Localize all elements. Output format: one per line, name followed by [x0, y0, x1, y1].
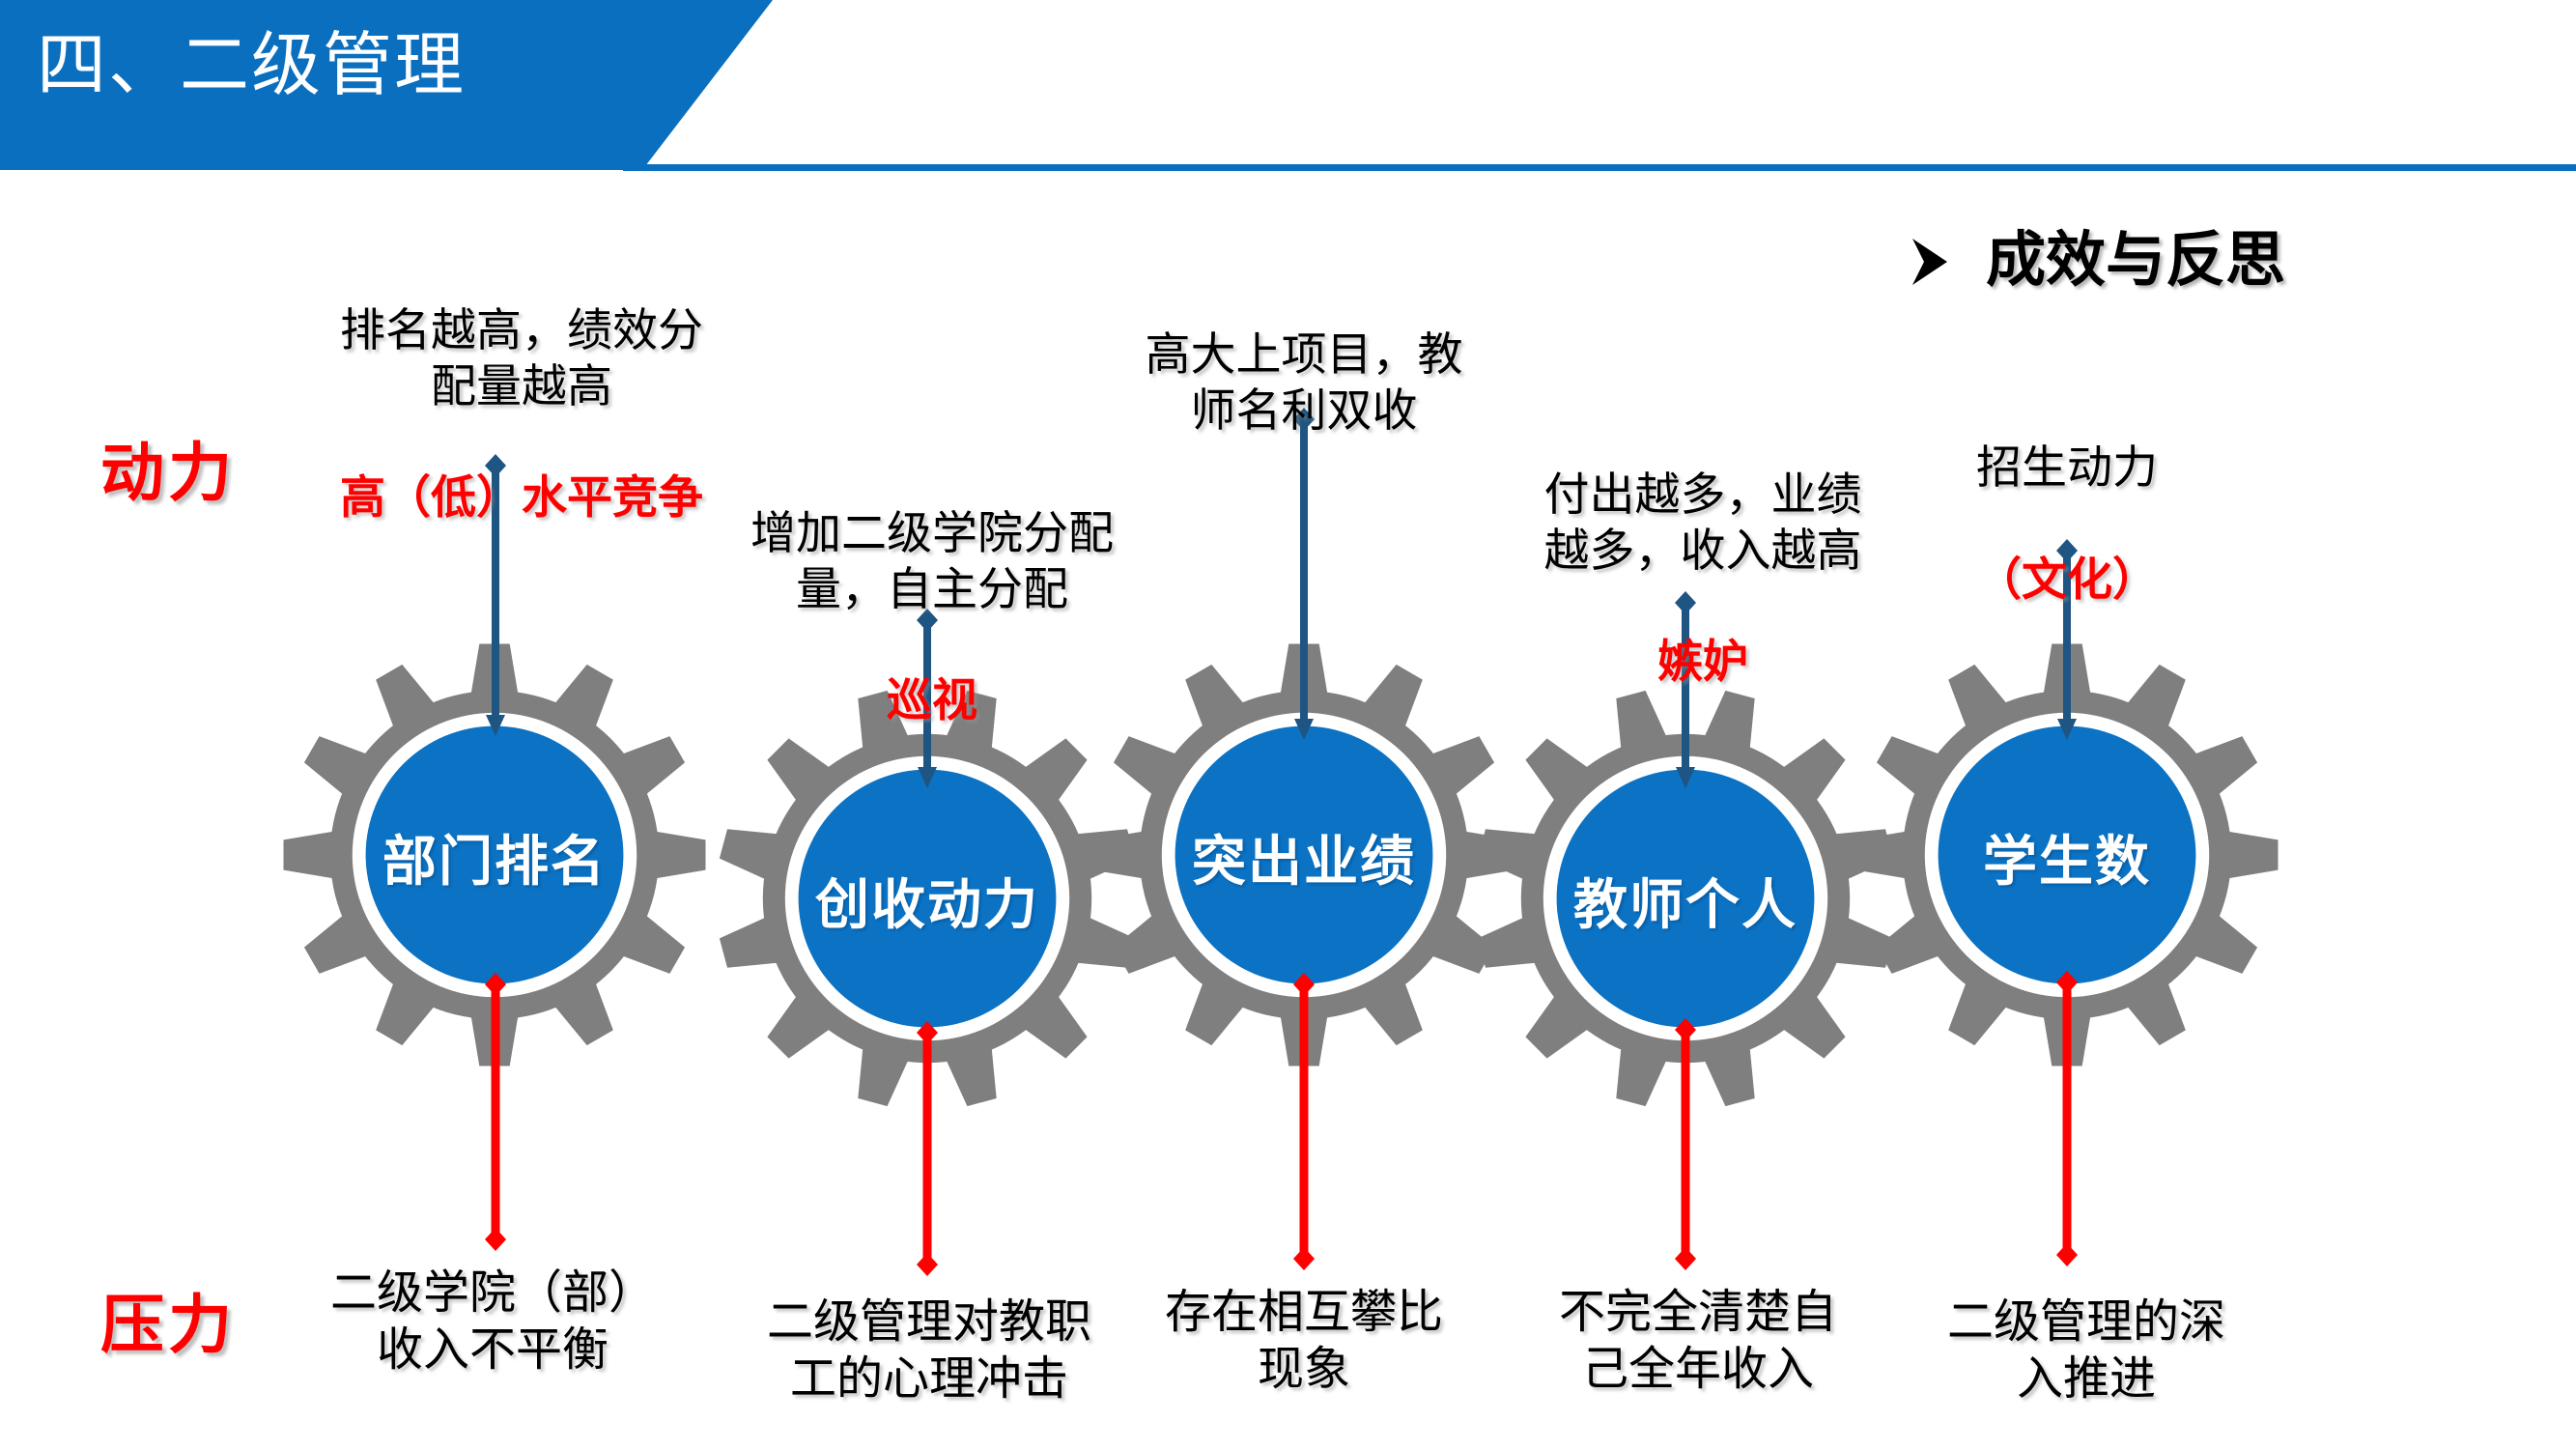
- bottom-note-2: 二级管理对教职 工的心理冲击: [726, 1294, 1132, 1407]
- connector-bottom-2: [910, 1019, 945, 1278]
- top-note-2-highlight: 巡视: [887, 674, 977, 727]
- bottom-note-1: 二级学院（部） 收入不平衡: [290, 1265, 695, 1379]
- page-title: 四、二级管理: [37, 27, 466, 103]
- header-rule-left: [365, 165, 636, 170]
- top-note-4-highlight: 嫉妒: [1657, 636, 1748, 689]
- connector-bottom-4: [1668, 1016, 1703, 1272]
- header-rule: [623, 164, 2576, 171]
- axis-label-pressure: 压力: [100, 1273, 236, 1366]
- top-note-1: 排名越高，绩效分 配量越高 高（低）水平竞争: [280, 249, 763, 527]
- connector-bottom-3: [1287, 971, 1321, 1272]
- axis-label-power: 动力: [100, 421, 236, 514]
- top-note-3: 高大上项目，教 师名利双收: [1101, 273, 1507, 440]
- connector-top-3: [1287, 406, 1321, 742]
- bottom-note-3: 存在相互攀比 现象: [1111, 1285, 1497, 1398]
- section-heading-label: 成效与反思: [1986, 211, 2285, 298]
- bottom-note-5: 二级管理的深 入推进: [1893, 1294, 2279, 1407]
- top-note-2-text: 增加二级学院分配 量，自主分配: [750, 509, 1114, 614]
- top-note-1-highlight: 高（低）水平竞争: [340, 471, 703, 525]
- top-note-3-text: 高大上项目，教 师名利双收: [1146, 330, 1463, 436]
- slide-canvas: 四、二级管理 成效与反思 动力 压力 部门排名: [0, 0, 2576, 1450]
- connector-bottom-1: [478, 971, 513, 1253]
- triangle-bullet-icon: [1911, 231, 1949, 281]
- section-heading: 成效与反思: [1911, 211, 2285, 298]
- top-note-5: 招生动力 （文化）: [1888, 386, 2246, 609]
- top-note-5-highlight: （文化）: [1976, 554, 2158, 607]
- top-note-4: 付出越多，业绩 越多，收入越高 嫉妒: [1495, 413, 1911, 692]
- top-note-5-text: 招生动力: [1976, 443, 2158, 494]
- top-note-1-text: 排名越高，绩效分 配量越高: [340, 306, 703, 412]
- connector-bottom-5: [2050, 969, 2084, 1268]
- bottom-note-4: 不完全清楚自 己全年收入: [1495, 1285, 1901, 1398]
- top-note-2: 增加二级学院分配 量，自主分配 巡视: [695, 452, 1169, 730]
- top-note-4-text: 付出越多，业绩 越多，收入越高: [1544, 470, 1862, 576]
